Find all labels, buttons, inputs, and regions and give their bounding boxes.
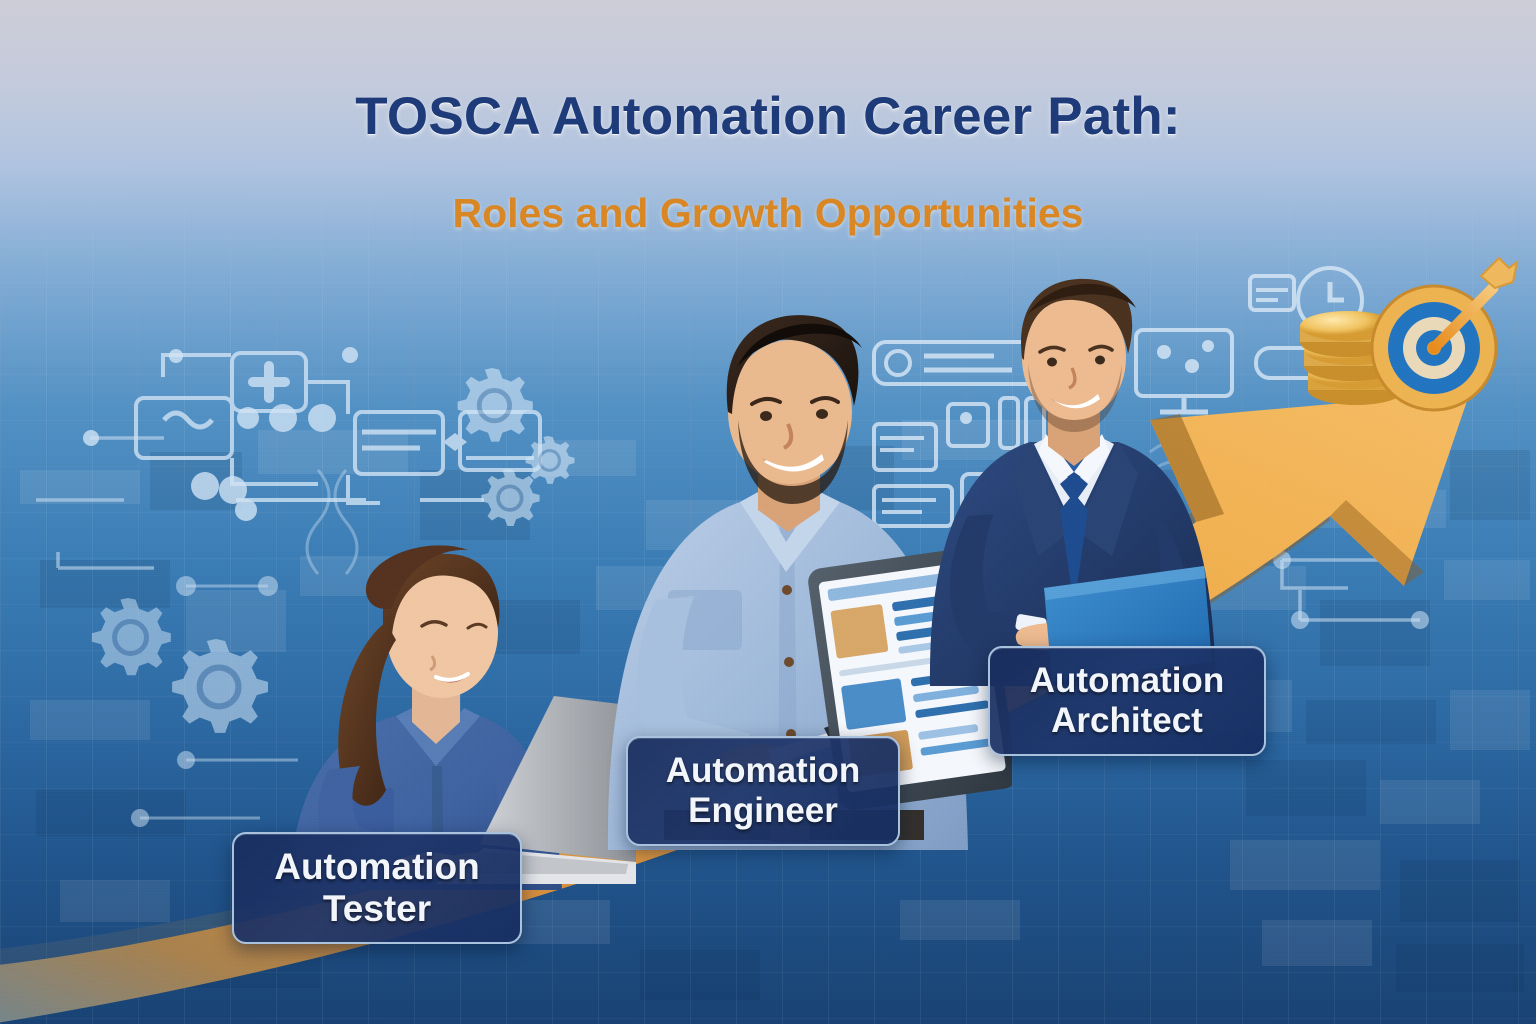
infographic-canvas: Automation Tester Automation Engineer Au… xyxy=(0,0,1536,1024)
grain-overlay xyxy=(0,0,1536,1024)
